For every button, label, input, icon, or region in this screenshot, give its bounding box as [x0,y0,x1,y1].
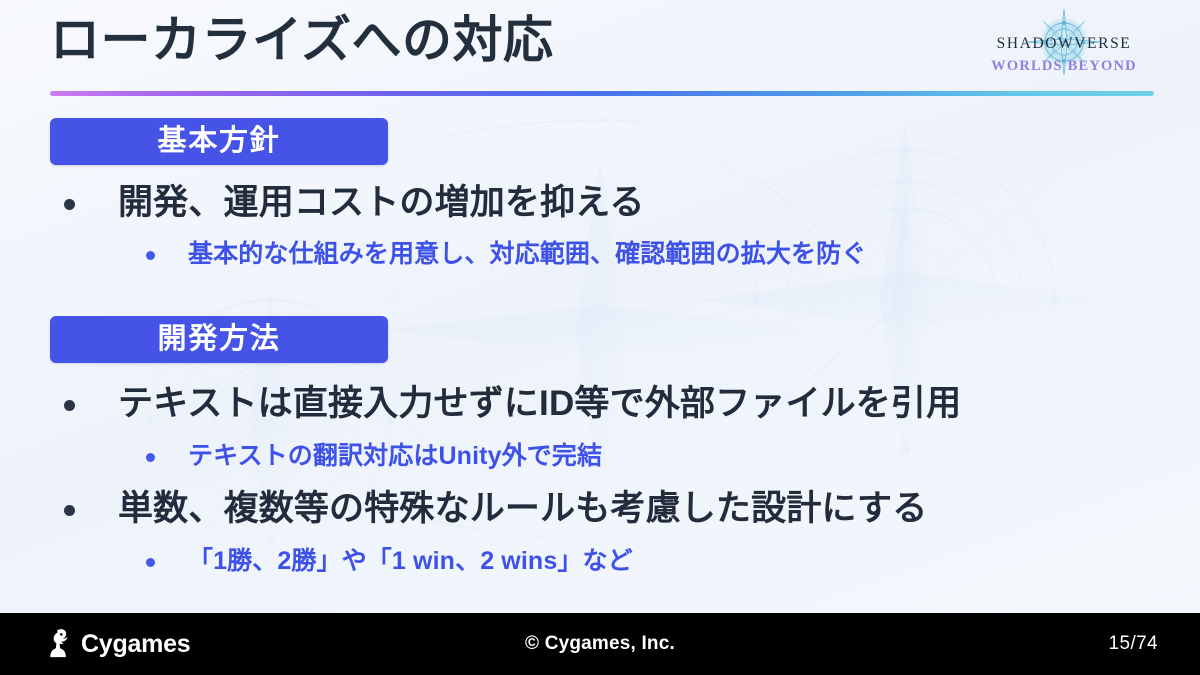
bullet-marker-level1 [64,505,75,516]
bullet-item: 単数、複数等の特殊なルールも考慮した設計にする [64,489,927,528]
bullet-marker-level2 [146,251,155,260]
title-divider-rule [50,91,1154,96]
bullet-text: 「1勝、2勝」や「1 win、2 wins」など [188,547,633,575]
bullet-item: 基本的な仕組みを用意し、対応範囲、確認範囲の拡大を防ぐ [146,240,866,268]
bullet-text: 単数、複数等の特殊なルールも考慮した設計にする [118,489,927,528]
page-title-block: ローカライズへの対応 [50,12,554,70]
copyright-text: © Cygames, Inc. [0,633,1200,655]
section-badge-basic-policy: 基本方針 [50,118,388,165]
presentation-slide: SHADOWVERSE WORLDS BEYOND ローカライズへの対応 基本方… [0,0,1200,675]
page-title: ローカライズへの対応 [50,12,554,70]
slide-footer: Cygames © Cygames, Inc. 15/74 [0,613,1200,675]
bullet-text: 開発、運用コストの増加を抑える [118,183,645,222]
page-number: 15/74 [1109,633,1158,655]
bullet-item: テキストは直接入力せずにID等で外部ファイルを引用 [64,384,961,423]
bullet-marker-level1 [64,199,75,210]
bullet-item: 「1勝、2勝」や「1 win、2 wins」など [146,547,633,575]
section-badge-label: 基本方針 [158,127,281,156]
bullet-marker-level1 [64,400,75,411]
slide-content: 基本方針 開発、運用コストの増加を抑える 基本的な仕組みを用意し、対応範囲、確認… [0,0,1200,675]
section-badge-label: 開発方法 [158,325,281,354]
bullet-marker-level2 [146,453,155,462]
bullet-item: テキストの翻訳対応はUnity外で完結 [146,442,602,470]
bullet-text: テキストは直接入力せずにID等で外部ファイルを引用 [118,384,961,423]
bullet-text: 基本的な仕組みを用意し、対応範囲、確認範囲の拡大を防ぐ [188,240,866,268]
shadowverse-worlds-beyond-logo: SHADOWVERSE WORLDS BEYOND [964,8,1164,86]
svg-text:WORLDS BEYOND: WORLDS BEYOND [991,58,1137,74]
bullet-text: テキストの翻訳対応はUnity外で完結 [188,442,602,470]
bullet-item: 開発、運用コストの増加を抑える [64,183,645,222]
bullet-marker-level2 [146,558,155,567]
svg-text:SHADOWVERSE: SHADOWVERSE [997,35,1132,52]
section-badge-development-method: 開発方法 [50,316,388,363]
